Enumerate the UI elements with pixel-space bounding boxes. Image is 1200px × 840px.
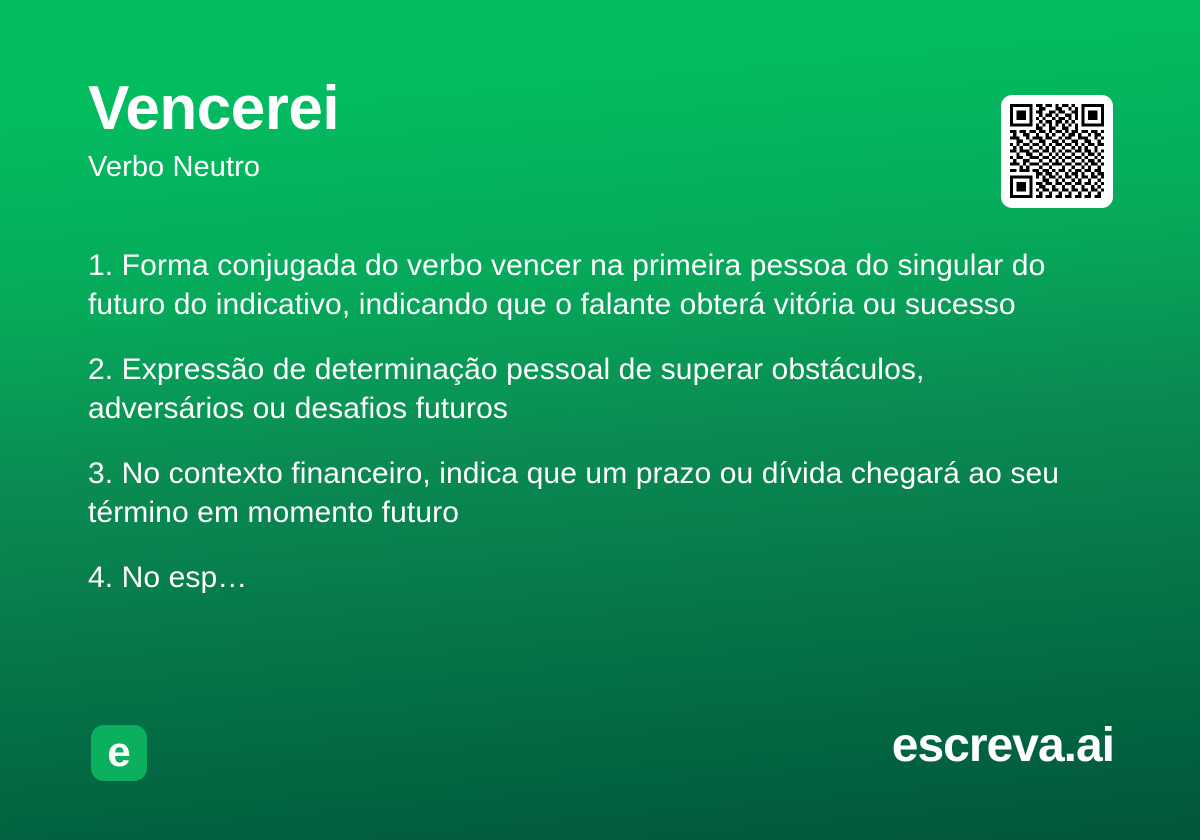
- qr-code-panel[interactable]: [1001, 95, 1113, 208]
- qr-code-icon: [1010, 104, 1104, 198]
- definition-item: 2. Expressão de determinação pessoal de …: [88, 350, 1088, 428]
- brand-logo-badge: e: [91, 725, 147, 781]
- brand-wordmark: escreva.ai: [892, 722, 1114, 770]
- definition-item: 3. No contexto financeiro, indica que um…: [88, 454, 1088, 532]
- card-header: Vencerei Verbo Neutro: [88, 78, 968, 184]
- definition-card: Vencerei Verbo Neutro 1. Forma conjugada…: [0, 0, 1200, 840]
- definition-item-truncated: 4. No esp…: [88, 558, 1088, 597]
- page-title: Vencerei: [88, 78, 968, 140]
- brand-logo-letter: e: [107, 731, 130, 773]
- definition-item: 1. Forma conjugada do verbo vencer na pr…: [88, 246, 1088, 324]
- word-class-label: Verbo Neutro: [88, 152, 968, 184]
- definition-list: 1. Forma conjugada do verbo vencer na pr…: [88, 246, 1088, 597]
